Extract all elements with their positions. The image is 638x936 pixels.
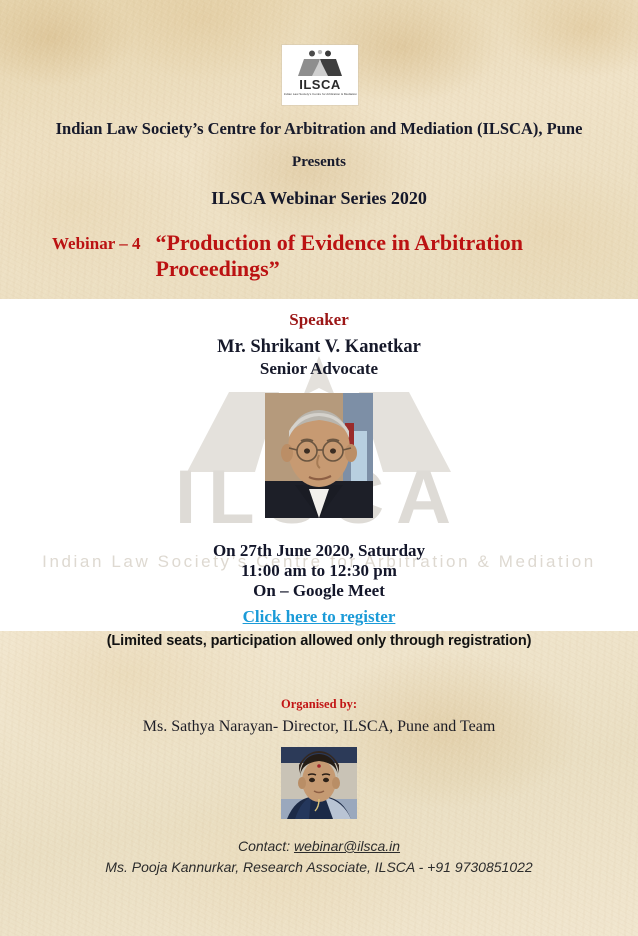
contact-email[interactable]: webinar@ilsca.in <box>294 838 400 854</box>
webinar-title: “Production of Evidence in Arbitration P… <box>155 230 555 282</box>
speaker-photo <box>265 393 373 518</box>
organiser-photo <box>281 747 357 819</box>
ilsca-logo-tagline: Indian Law Society's Centre for Arbitrat… <box>283 93 356 96</box>
seats-note: (Limited seats, participation allowed on… <box>0 633 638 650</box>
ilsca-logo: ILSCA Indian Law Society's Centre for Ar… <box>282 45 358 105</box>
register-link[interactable]: Click here to register <box>243 607 396 626</box>
speaker-portrait-illustration <box>265 393 373 518</box>
register-link-wrap: Click here to register <box>0 607 638 627</box>
speaker-name: Mr. Shrikant V. Kanetkar <box>0 337 638 358</box>
ilsca-logo-figures-icon <box>297 50 343 76</box>
webinar-number: Webinar – 4 <box>52 230 140 254</box>
organiser-portrait-illustration <box>281 747 357 819</box>
presents-label: Presents <box>0 154 638 171</box>
organised-by-label: Organised by: <box>0 697 638 711</box>
contact-line: Contact: webinar@ilsca.in <box>0 838 638 854</box>
contact-person: Ms. Pooja Kannurkar, Research Associate,… <box>0 859 638 875</box>
webinar-heading-row: Webinar – 4 “Production of Evidence in A… <box>0 230 638 282</box>
organiser-name: Ms. Sathya Narayan- Director, ILSCA, Pun… <box>0 718 638 736</box>
event-date: On 27th June 2020, Saturday <box>0 541 638 561</box>
ilsca-logo-wordmark: ILSCA <box>299 78 341 91</box>
speaker-label: Speaker <box>0 310 638 330</box>
webinar-poster: ILSCA Indian Law Society’s Centre for Ar… <box>0 0 638 936</box>
series-title: ILSCA Webinar Series 2020 <box>0 188 638 209</box>
organisation-title: Indian Law Society’s Centre for Arbitrat… <box>0 120 638 139</box>
event-platform: On – Google Meet <box>0 581 638 601</box>
speaker-role: Senior Advocate <box>0 359 638 379</box>
event-time: 11:00 am to 12:30 pm <box>0 561 638 581</box>
contact-prefix: Contact: <box>238 838 294 854</box>
